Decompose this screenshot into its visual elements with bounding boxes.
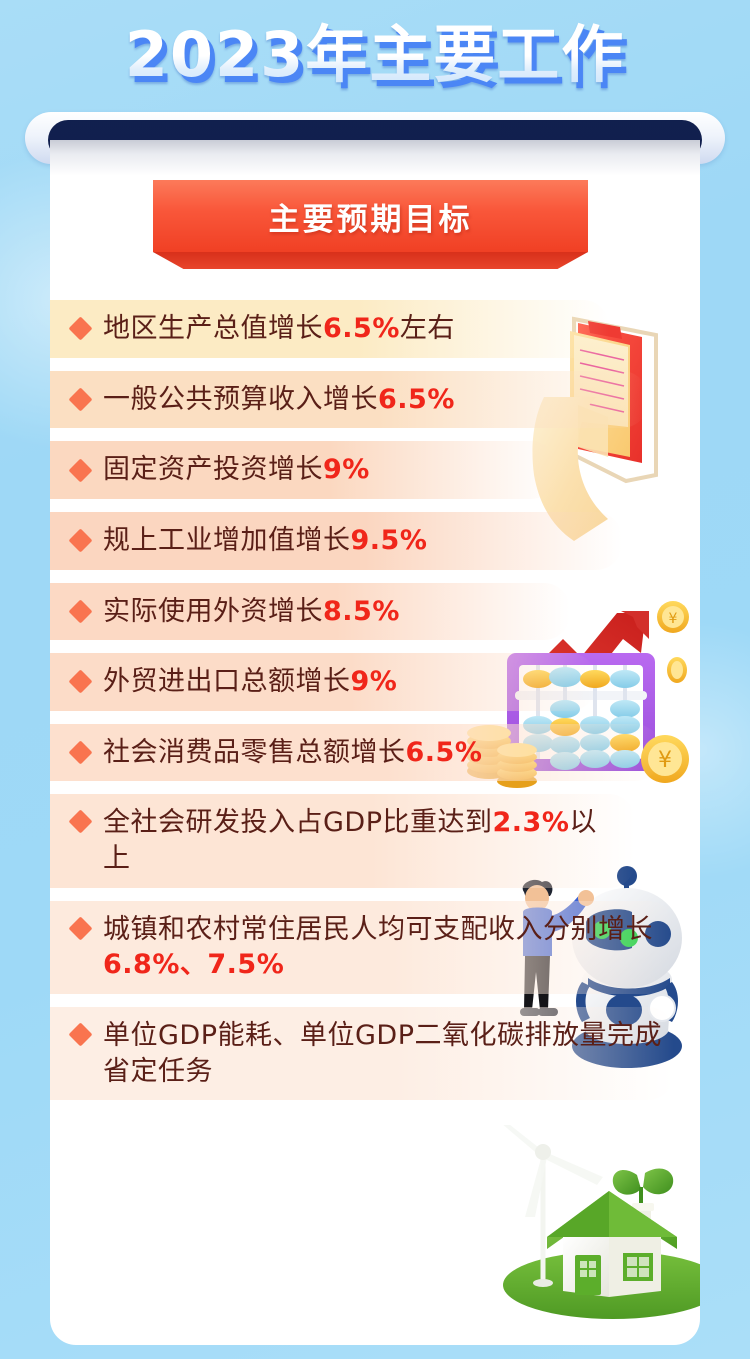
- goal-item: 一般公共预算收入增长6.5%: [50, 371, 648, 429]
- goal-item: 固定资产投资增长9%: [50, 441, 557, 499]
- card-top-shadow: [50, 140, 700, 176]
- goal-value: 6.5%: [323, 313, 400, 344]
- goal-text: 固定资产投资增长9%: [103, 452, 557, 488]
- goal-item: 实际使用外资增长8.5%: [50, 583, 570, 641]
- goal-item: 城镇和农村常住居民人均可支配收入分别增长6.8%、7.5%: [50, 901, 674, 994]
- goal-item: 地区生产总值增长6.5%左右: [50, 300, 609, 358]
- banner-fold: [153, 252, 588, 269]
- diamond-bullet-icon: [68, 741, 92, 765]
- page-title: 2023年主要工作: [125, 22, 626, 87]
- diamond-bullet-icon: [68, 458, 92, 482]
- page-title-container: 2023年主要工作: [0, 22, 750, 87]
- goal-text: 实际使用外资增长8.5%: [103, 594, 570, 630]
- diamond-bullet-icon: [68, 599, 92, 623]
- goal-value: 2.3%: [493, 807, 570, 838]
- goal-item: 社会消费品零售总额增长6.5%: [50, 724, 661, 782]
- goal-list: 地区生产总值增长6.5%左右一般公共预算收入增长6.5%固定资产投资增长9%规上…: [50, 300, 700, 1113]
- diamond-bullet-icon: [68, 916, 92, 940]
- diamond-bullet-icon: [68, 317, 92, 341]
- goal-value: 8.5%: [323, 596, 400, 627]
- diamond-bullet-icon: [68, 1022, 92, 1046]
- goal-value: 6.5%: [406, 737, 483, 768]
- goal-item: 全社会研发投入占GDP比重达到2.3%以上: [50, 794, 635, 887]
- section-banner: 主要预期目标: [153, 180, 588, 266]
- goal-value: 6.5%: [378, 384, 455, 415]
- goal-item: 单位GDP能耗、单位GDP二氧化碳排放量完成省定任务: [50, 1007, 674, 1100]
- goal-text: 规上工业增加值增长9.5%: [103, 523, 622, 559]
- diamond-bullet-icon: [68, 810, 92, 834]
- goal-text: 城镇和农村常住居民人均可支配收入分别增长6.8%、7.5%: [103, 912, 674, 983]
- diamond-bullet-icon: [68, 670, 92, 694]
- eco-house-illustration: [485, 1125, 700, 1325]
- goal-text: 社会消费品零售总额增长6.5%: [103, 735, 661, 771]
- diamond-bullet-icon: [68, 529, 92, 553]
- goal-value: 9.5%: [351, 525, 428, 556]
- goal-value: 6.8%、7.5%: [103, 949, 284, 980]
- diamond-bullet-icon: [68, 387, 92, 411]
- banner-label: 主要预期目标: [153, 180, 588, 252]
- content-card: 主要预期目标: [50, 140, 700, 1345]
- goal-text: 全社会研发投入占GDP比重达到2.3%以上: [103, 805, 635, 876]
- goal-text: 外贸进出口总额增长9%: [103, 664, 596, 700]
- goal-item: 规上工业增加值增长9.5%: [50, 512, 622, 570]
- goal-item: 外贸进出口总额增长9%: [50, 653, 596, 711]
- goal-value: 9%: [323, 454, 370, 485]
- goal-value: 9%: [351, 666, 398, 697]
- goal-text: 一般公共预算收入增长6.5%: [103, 382, 648, 418]
- goal-text: 地区生产总值增长6.5%左右: [103, 311, 609, 347]
- goal-text: 单位GDP能耗、单位GDP二氧化碳排放量完成省定任务: [103, 1018, 674, 1089]
